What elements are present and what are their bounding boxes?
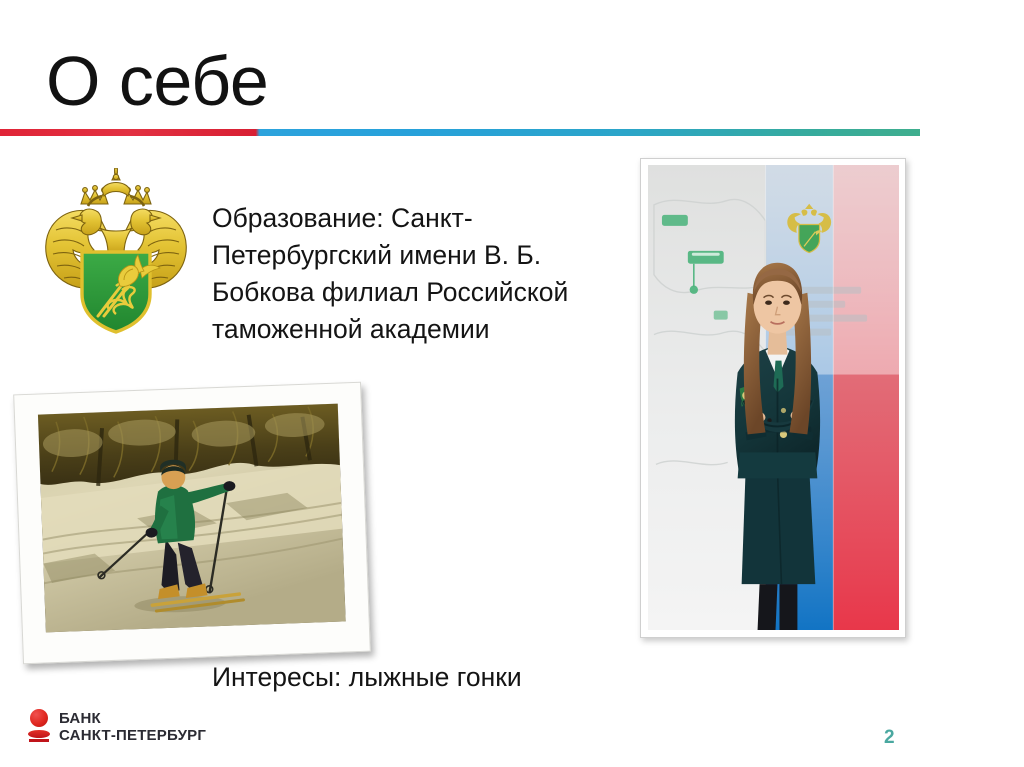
cross-country-skiing-photo [13, 382, 371, 665]
bank-logo-underline [29, 739, 49, 742]
page-title: О себе [46, 42, 268, 120]
portrait-photo-image [648, 165, 899, 630]
bank-saint-petersburg-logo: БАНК САНКТ-ПЕТЕРБУРГ [28, 708, 206, 746]
title-underline-rule [0, 129, 920, 136]
bank-logo-sphere [30, 709, 48, 727]
bank-logo-wordmark: БАНК САНКТ-ПЕТЕРБУРГ [59, 710, 206, 744]
page-number: 2 [884, 727, 895, 749]
russian-customs-emblem-icon [36, 168, 196, 336]
bank-logo-line1: БАНК [59, 710, 206, 727]
bank-logo-line2: САНКТ-ПЕТЕРБУРГ [59, 727, 206, 744]
bank-logo-mark-icon [28, 708, 50, 746]
education-text: Образование: Санкт-Петербургский имени В… [212, 200, 644, 348]
bank-logo-base [28, 730, 50, 738]
slide-canvas: О себе [0, 0, 1024, 767]
interests-text: Интересы: лыжные гонки [212, 659, 522, 695]
officer-portrait-photo [640, 158, 906, 638]
ski-photo-image [38, 404, 346, 633]
